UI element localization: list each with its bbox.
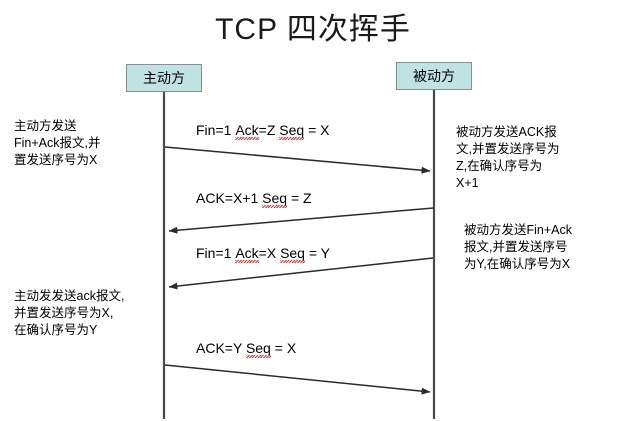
page-title: TCP 四次挥手 xyxy=(0,4,626,48)
spellcheck-marked-text: Ack xyxy=(235,245,258,261)
note-passive-send-ack: 被动方发送ACK报 文,并置发送序号为 Z,在确认序号为 X+1 xyxy=(456,124,622,192)
note-active-send-ack: 主动发发送ack报文, 并置发送序号为X, 在确认序号为Y xyxy=(14,288,160,339)
label-text: Fin=1 xyxy=(196,245,235,261)
label-text: =Z xyxy=(259,122,280,138)
label-text: = Z xyxy=(287,190,312,206)
label-text: = Y xyxy=(305,245,330,261)
spellcheck-marked-text: Ack xyxy=(235,122,258,138)
message-label-fin-ack-2: Fin=1 Ack=X Seq = Y xyxy=(196,245,330,261)
label-text: ACK=X+1 xyxy=(196,190,262,206)
actor-box-active: 主动方 xyxy=(126,64,202,92)
arrow-fin-ack-1 xyxy=(165,147,430,171)
actor-label-active: 主动方 xyxy=(143,70,185,86)
spellcheck-marked-text: Seq xyxy=(279,122,304,138)
actor-box-passive: 被动方 xyxy=(396,62,472,90)
label-text: =X xyxy=(259,245,280,261)
label-text: ACK=Y xyxy=(196,340,246,356)
spellcheck-marked-text: Seq xyxy=(262,190,287,206)
label-text: Fin=1 xyxy=(196,122,235,138)
sequence-diagram: TCP 四次挥手 主动方 被动方 Fin=1 Ack=Z Seq = X ACK… xyxy=(0,0,626,421)
spellcheck-marked-text: Seq xyxy=(246,340,271,356)
message-label-ack-1: ACK=X+1 Seq = Z xyxy=(196,190,312,206)
label-text: = X xyxy=(304,122,329,138)
note-passive-send-fin-ack: 被动方发送Fin+Ack 报文,并置发送序号 为Y,在确认序号为X xyxy=(464,222,622,273)
spellcheck-marked-text: Seq xyxy=(280,245,305,261)
message-label-fin-ack-1: Fin=1 Ack=Z Seq = X xyxy=(196,122,330,138)
arrow-ack-1 xyxy=(169,208,433,231)
actor-label-passive: 被动方 xyxy=(413,68,455,84)
label-text: = X xyxy=(271,340,296,356)
message-label-ack-2: ACK=Y Seq = X xyxy=(196,340,296,356)
lifelines-and-arrows-layer xyxy=(0,0,626,421)
arrow-ack-2 xyxy=(165,365,430,392)
note-active-send-fin-ack: 主动方发送 Fin+Ack报文,并 置发送序号为X xyxy=(14,118,154,169)
